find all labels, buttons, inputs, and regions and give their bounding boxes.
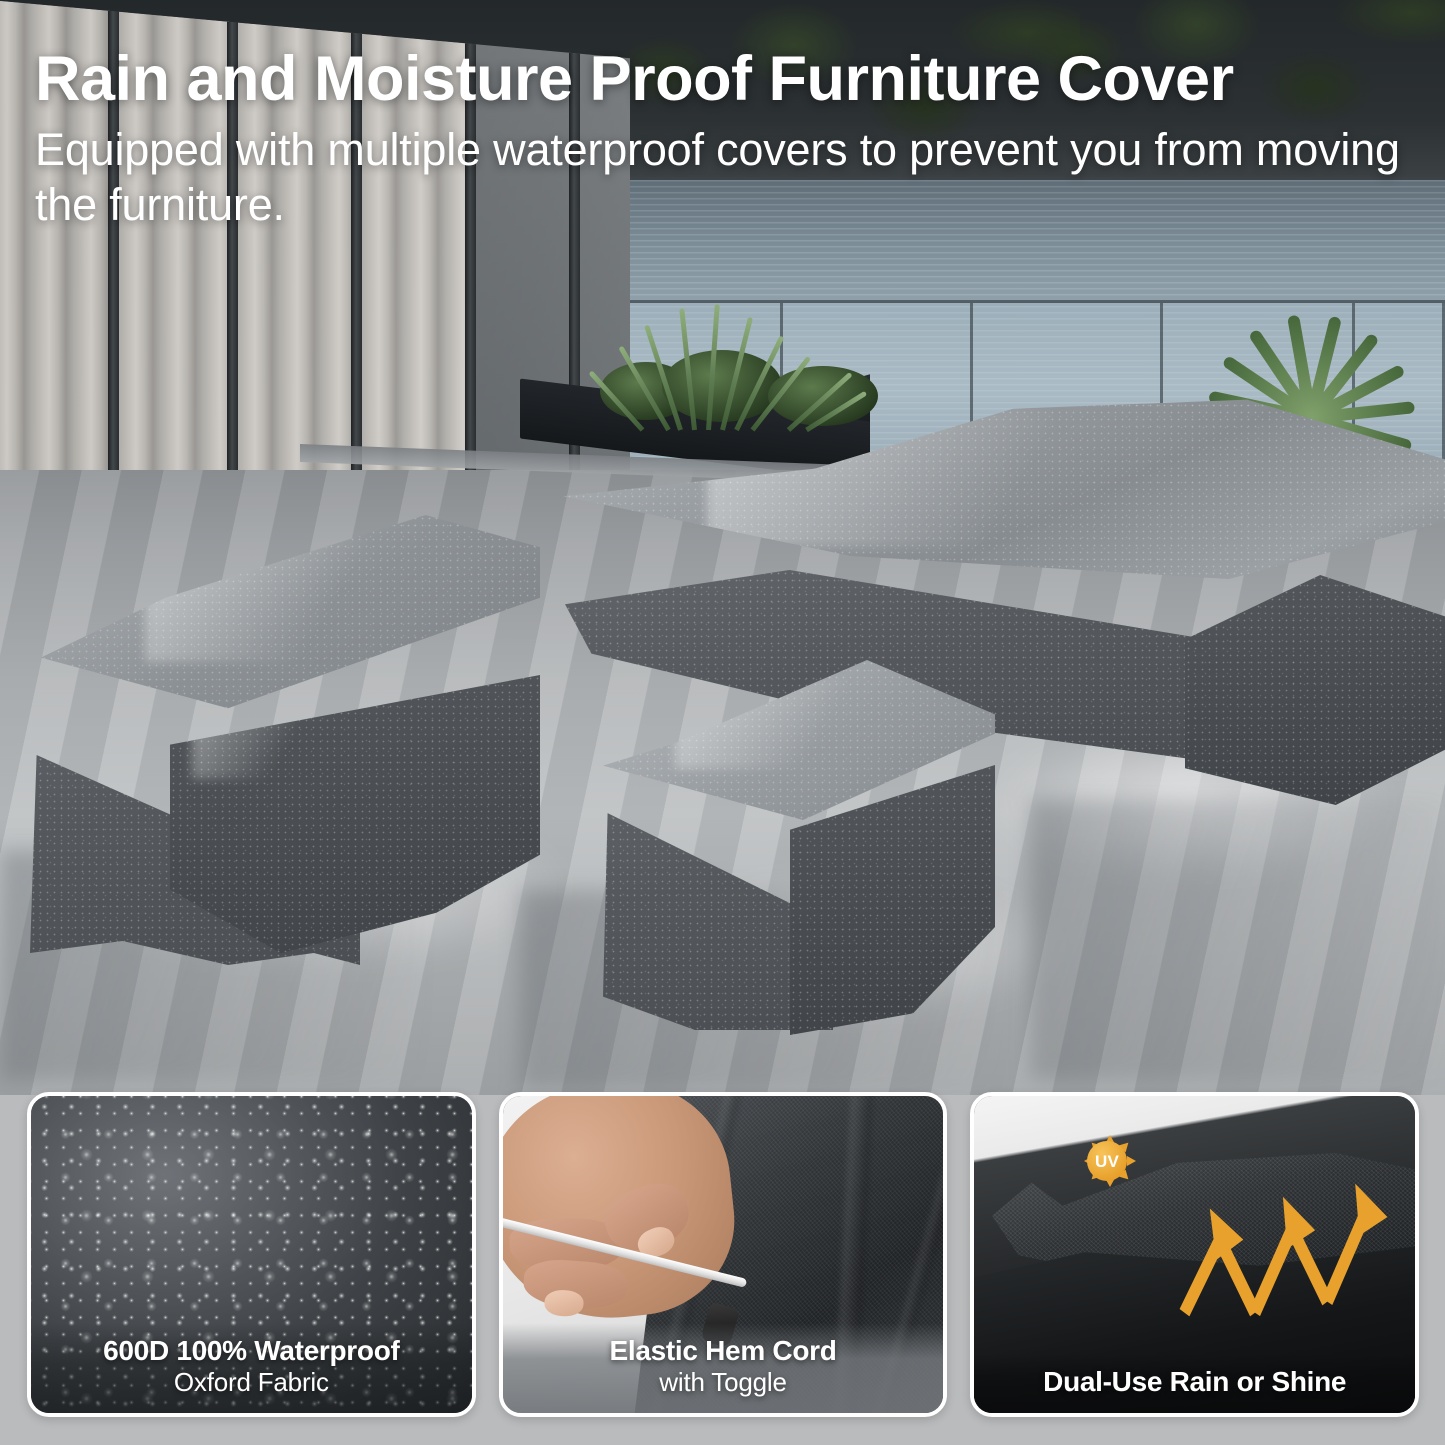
feature-card-toggle[interactable]: Elastic Hem Cord with Toggle [499,1092,948,1417]
hero-copy-block: Rain and Moisture Proof Furniture Cover … [35,48,1425,233]
feature-subtitle: Oxford Fabric [41,1368,462,1397]
uv-sun-icon: UV [1080,1134,1134,1188]
bench-table-cover [20,515,540,965]
feature-title: 600D 100% Waterproof [41,1335,462,1366]
hero-subhead: Equipped with multiple waterproof covers… [35,123,1410,233]
feature-card-row: 600D 100% Waterproof Oxford Fabric [27,1092,1419,1417]
feature-card-waterproof[interactable]: 600D 100% Waterproof Oxford Fabric [27,1092,476,1417]
hero-scene: Rain and Moisture Proof Furniture Cover … [0,0,1445,1095]
feature-title: Elastic Hem Cord [513,1335,934,1366]
feature-card-label: Elastic Hem Cord with Toggle [503,1323,944,1413]
feature-subtitle: with Toggle [513,1368,934,1397]
feature-title: Dual-Use Rain or Shine [984,1366,1405,1397]
uv-badge-text: UV [1095,1153,1119,1170]
uv-reflection-arrows-icon [1151,1172,1407,1337]
feature-card-label: 600D 100% Waterproof Oxford Fabric [31,1323,472,1413]
page-title: Rain and Moisture Proof Furniture Cover [35,48,1425,111]
product-feature-poster: Rain and Moisture Proof Furniture Cover … [0,0,1445,1445]
ottoman-cover [595,660,995,1030]
feature-card-label: Dual-Use Rain or Shine [974,1354,1415,1413]
feature-card-uv[interactable]: UV Dual-Use Rain or Shine [970,1092,1419,1417]
